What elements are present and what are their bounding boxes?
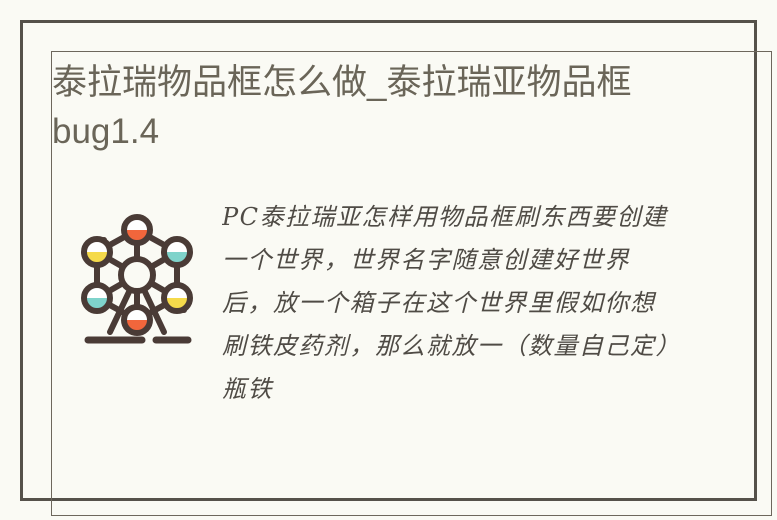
cabin-bottom <box>122 307 152 336</box>
cabin-lower-left <box>82 285 112 314</box>
ferris-wheel-icon <box>72 204 202 354</box>
cabin-top <box>122 217 152 246</box>
cabin-lower-right <box>162 285 192 314</box>
page-canvas: 泰拉瑞物品框怎么做_泰拉瑞亚物品框bug1.4 <box>0 0 777 520</box>
article-body-text: PC泰拉瑞亚怎样用物品框刷东西要创建一个世界，世界名字随意创建好世界后，放一个箱… <box>222 196 674 426</box>
cabin-upper-right <box>162 239 192 268</box>
content-row: PC泰拉瑞亚怎样用物品框刷东西要创建一个世界，世界名字随意创建好世界后，放一个箱… <box>52 196 712 456</box>
cabin-upper-left <box>82 239 112 268</box>
page-title: 泰拉瑞物品框怎么做_泰拉瑞亚物品框bug1.4 <box>52 58 682 156</box>
